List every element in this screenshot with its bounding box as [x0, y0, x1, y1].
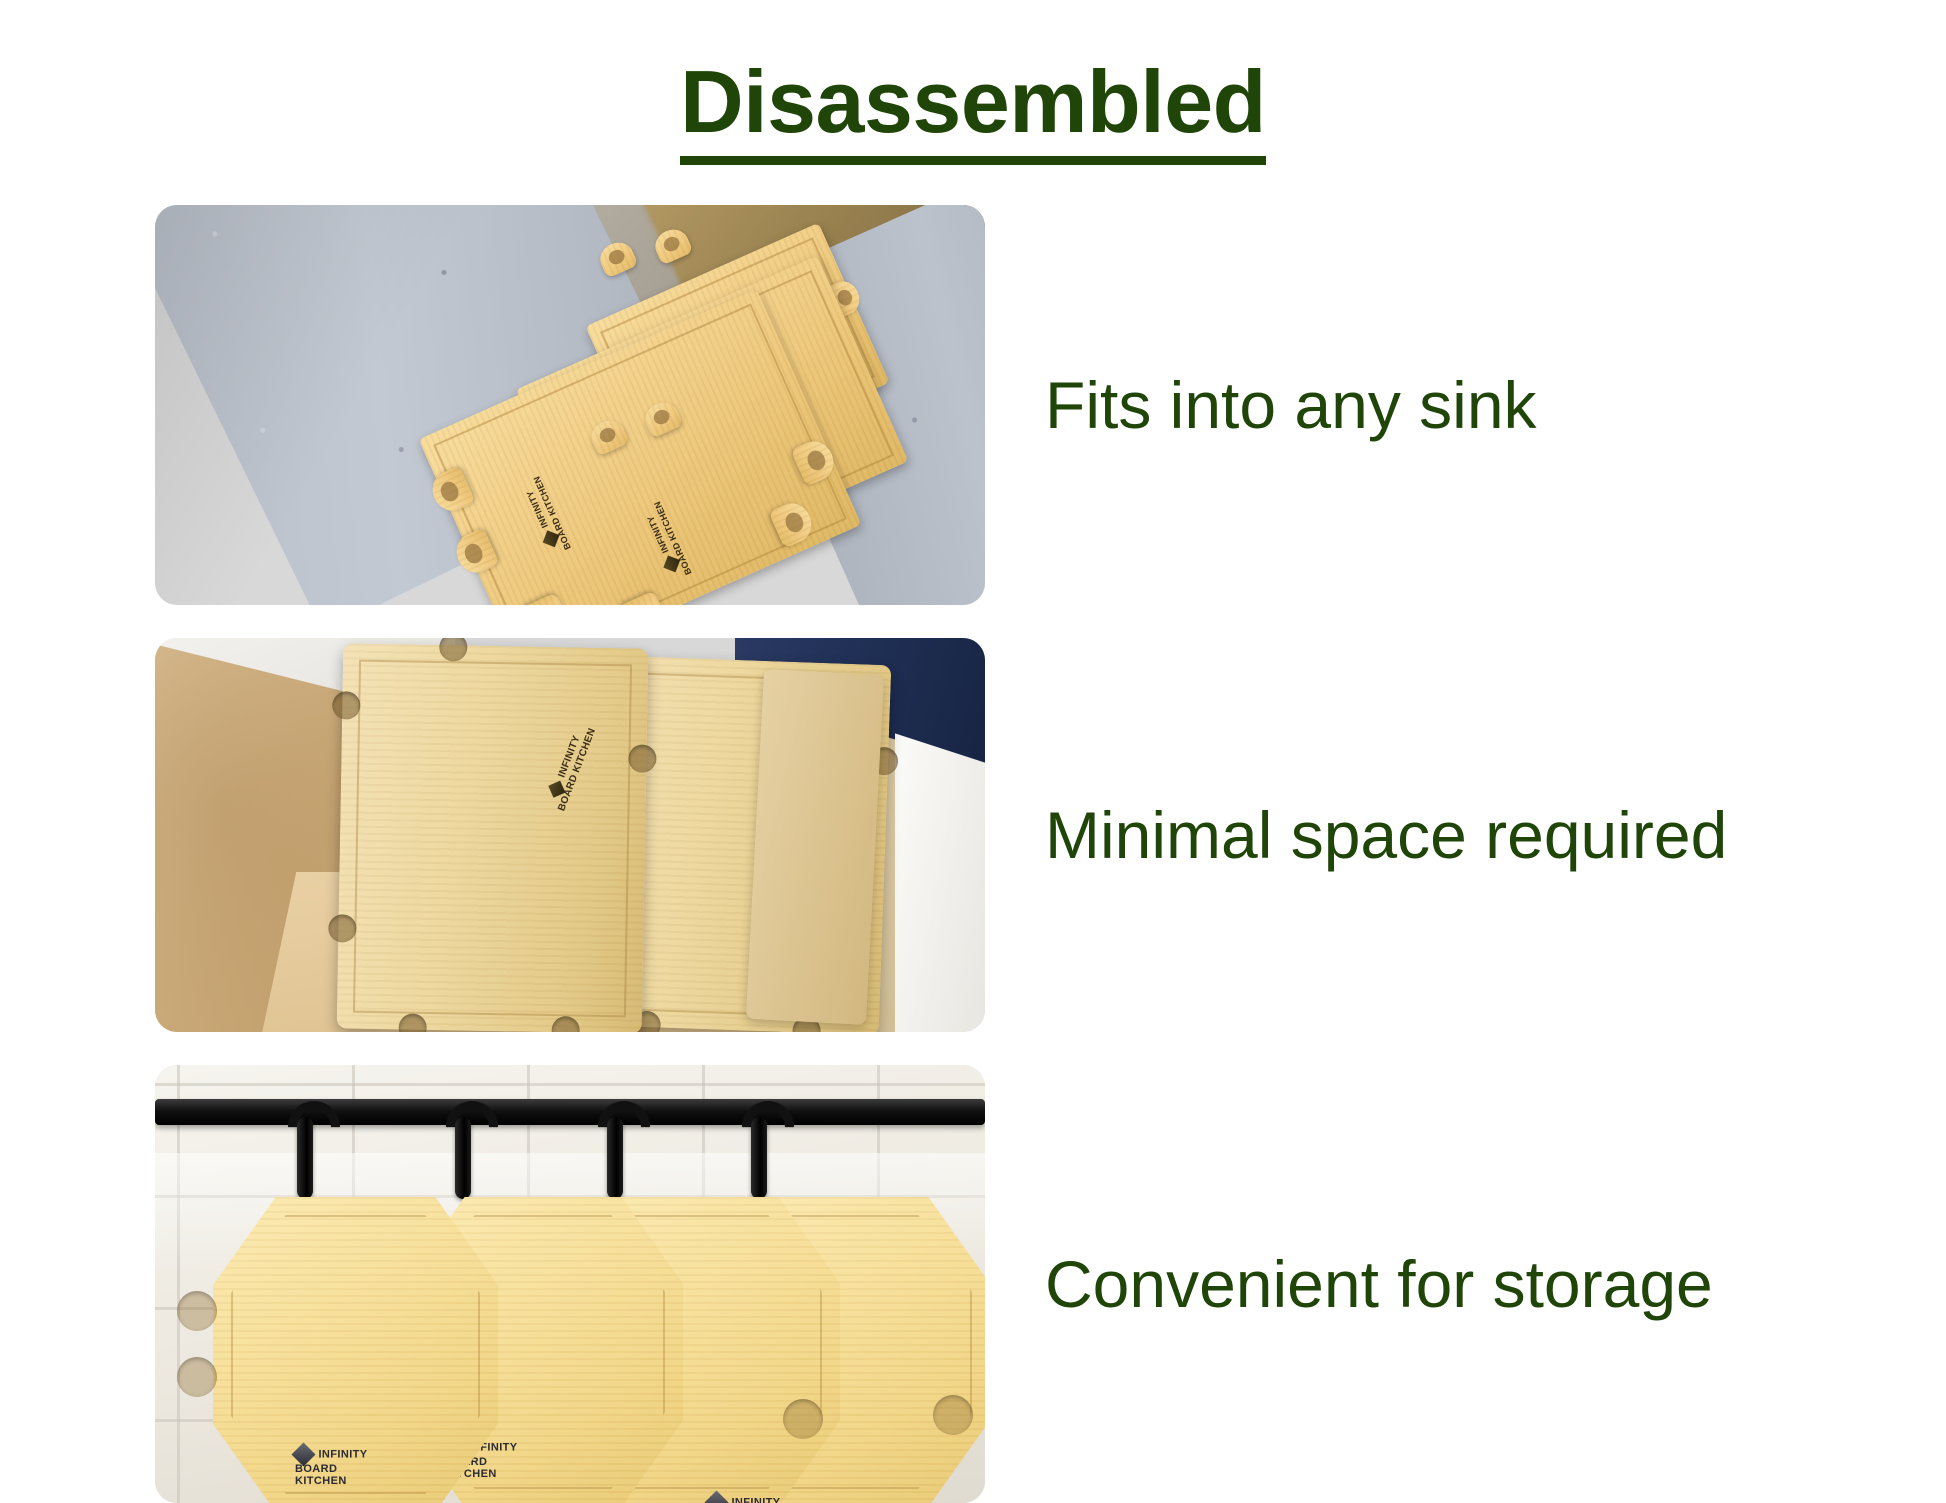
s-hook-icon	[751, 1117, 767, 1199]
feature-caption-0: Fits into any sink	[1045, 205, 1537, 605]
puzzle-notch	[439, 638, 467, 662]
brand-logo: INFINITY BOARD KITCHEN	[295, 1446, 368, 1488]
s-hook-icon	[455, 1117, 471, 1199]
hanging-rail	[155, 1099, 985, 1125]
feature-row-minimal-space-required: INFINITY BOARD KITCHEN INFINITY BOARD KI…	[0, 638, 1946, 1032]
drawer-front-edge	[895, 733, 985, 1032]
puzzle-tab	[783, 1399, 823, 1439]
brand-logo-text: INFINITY	[318, 1448, 367, 1460]
feature-row-fits-into-any-sink: INFINITY BOARD KITCHEN INFINITY BOARD KI…	[0, 205, 1946, 605]
boards-hanging-photo: INFINITY INFINITY BOARD KITCHEN	[155, 1065, 985, 1503]
brand-logo-text-3: KITCHEN	[295, 1475, 347, 1487]
drawer-scene: INFINITY BOARD KITCHEN INFINITY BOARD KI…	[155, 638, 985, 1032]
page-title: Disassembled	[0, 58, 1946, 165]
hanging-scene: INFINITY INFINITY BOARD KITCHEN	[155, 1065, 985, 1503]
s-hook-icon	[607, 1117, 623, 1199]
puzzle-notch	[332, 691, 360, 719]
board-in-sink-photo: INFINITY BOARD KITCHEN INFINITY BOARD KI…	[155, 205, 985, 605]
puzzle-tab	[177, 1357, 217, 1397]
puzzle-notch	[551, 1016, 579, 1032]
board-section-front-upright: INFINITY BOARD KITCHEN	[337, 643, 649, 1032]
diamond-emblem-icon	[704, 1490, 728, 1503]
feature-caption-2: Convenient for storage	[1045, 1065, 1713, 1503]
puzzle-tab	[933, 1395, 973, 1435]
board-juice-groove	[353, 660, 632, 1018]
puzzle-notch	[398, 1013, 426, 1032]
boards-in-drawer-photo: INFINITY BOARD KITCHEN INFINITY BOARD KI…	[155, 638, 985, 1032]
brand-logo-text: INFINITY	[731, 1496, 780, 1503]
scene-shadow-overlay	[155, 205, 985, 605]
s-hook-icon	[297, 1117, 313, 1199]
board-stack-edge	[746, 669, 884, 1025]
puzzle-tab	[177, 1291, 217, 1331]
feature-row-convenient-for-storage: INFINITY INFINITY BOARD KITCHEN	[0, 1065, 1946, 1503]
brand-logo: INFINITY	[708, 1494, 781, 1503]
page-title-text: Disassembled	[680, 58, 1266, 165]
sink-scene: INFINITY BOARD KITCHEN INFINITY BOARD KI…	[155, 205, 985, 605]
feature-caption-1: Minimal space required	[1045, 638, 1727, 1032]
puzzle-notch	[328, 914, 356, 942]
board-section-hanging-1: INFINITY BOARD KITCHEN	[213, 1197, 498, 1503]
